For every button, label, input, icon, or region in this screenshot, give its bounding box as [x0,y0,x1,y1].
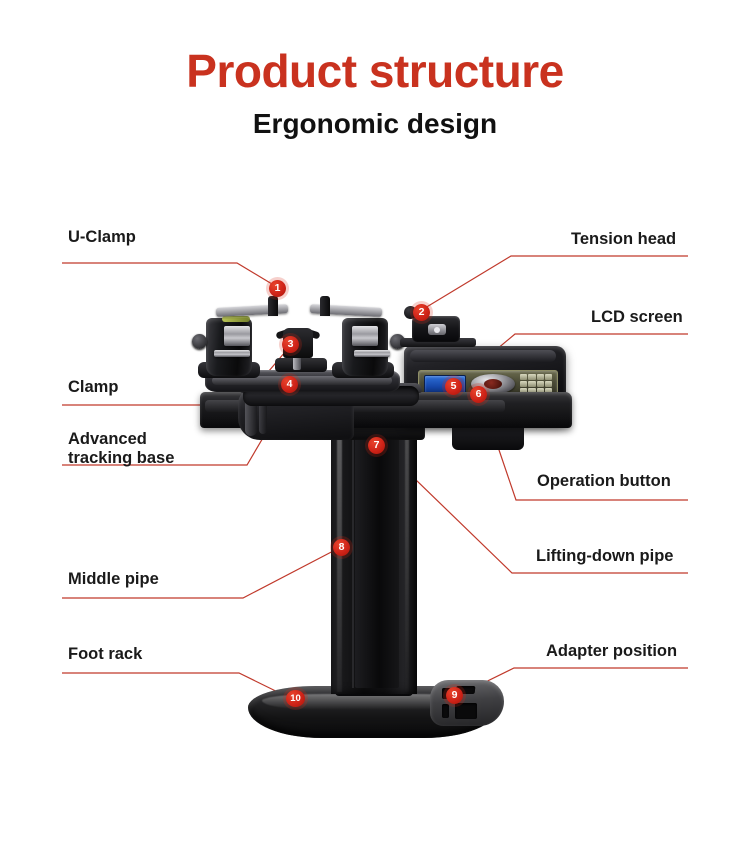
operation-dial-center [484,379,502,389]
clamp-chrome-block-right [352,326,378,346]
middle-pipe-highlight [337,426,342,692]
keypad-part [520,374,552,394]
clamp-chrome-block-left [224,326,250,346]
marker-10[interactable]: 10 [286,690,305,707]
product-structure-diagram: Product structure Ergonomic design [0,0,750,862]
clamp-chrome-rail-left [214,350,250,357]
marker-6[interactable]: 6 [470,386,487,403]
middle-pipe-seam [352,430,354,688]
middle-pipe-highlight [405,426,409,692]
adapter-slot [442,704,449,718]
marker-5[interactable]: 5 [445,378,462,395]
marker-2[interactable]: 2 [413,304,430,321]
machine-illustration [0,0,750,862]
marker-4[interactable]: 4 [281,376,298,393]
clamp-chrome-rail-right [354,350,390,357]
center-clamp-base [275,358,327,372]
marker-1[interactable]: 1 [269,280,286,297]
u-clamp-part-left [268,296,278,316]
marker-7[interactable]: 7 [368,437,385,454]
clamp-knob-left [192,334,207,349]
marker-3[interactable]: 3 [282,336,299,353]
console-top-edge [410,350,556,362]
marker-8[interactable]: 8 [333,539,350,556]
tension-head-dot [434,327,440,333]
u-clamp-part-right [320,296,330,316]
middle-pipe-inner [355,430,399,688]
adapter-slot [455,703,477,719]
clamp-accent-strip [222,316,250,322]
marker-9[interactable]: 9 [446,687,463,704]
